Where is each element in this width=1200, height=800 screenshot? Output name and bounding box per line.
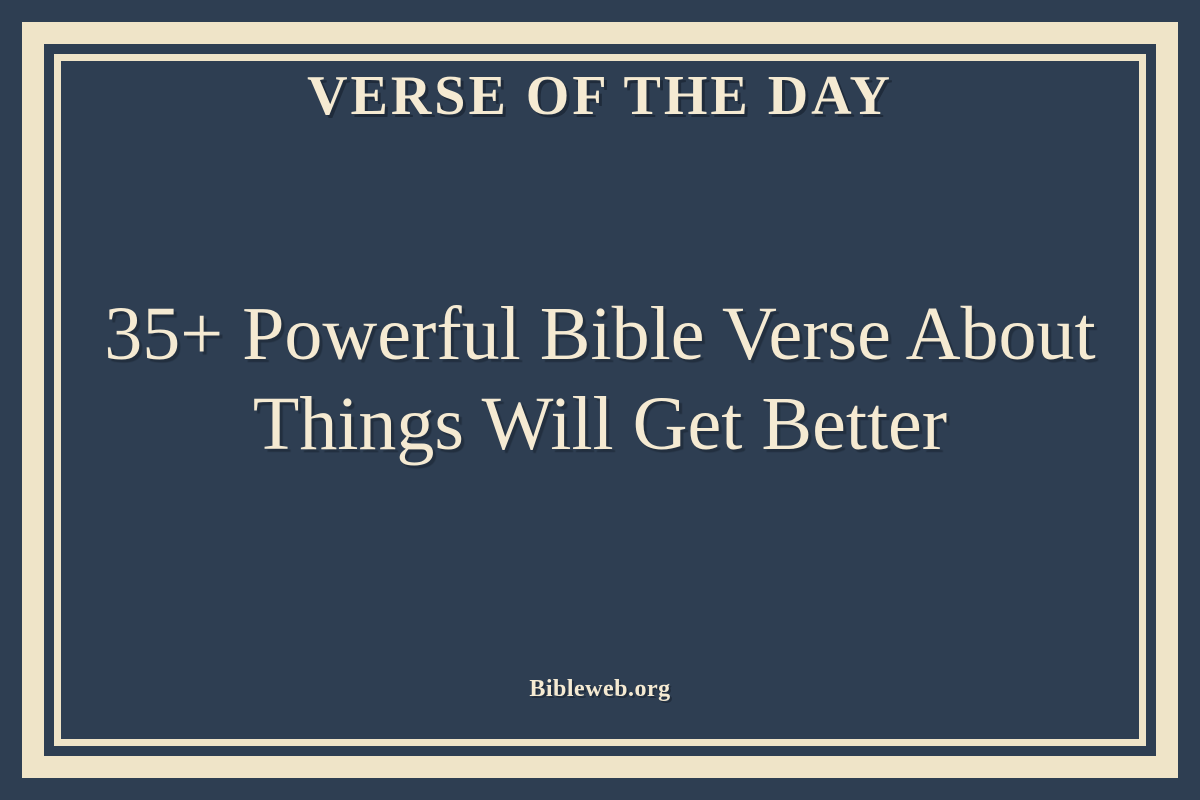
eyebrow-label: VERSE OF THE DAY <box>307 67 893 126</box>
poster-content: VERSE OF THE DAY 35+ Powerful Bible Vers… <box>61 61 1139 739</box>
verse-of-the-day-poster: VERSE OF THE DAY 35+ Powerful Bible Vers… <box>0 0 1200 800</box>
page-title-line-2: Things Will Get Better <box>61 379 1139 469</box>
site-attribution: Bibleweb.org <box>61 676 1139 703</box>
page-title: 35+ Powerful Bible Verse About Things Wi… <box>61 289 1139 469</box>
page-title-line-1: 35+ Powerful Bible Verse About <box>61 289 1139 379</box>
